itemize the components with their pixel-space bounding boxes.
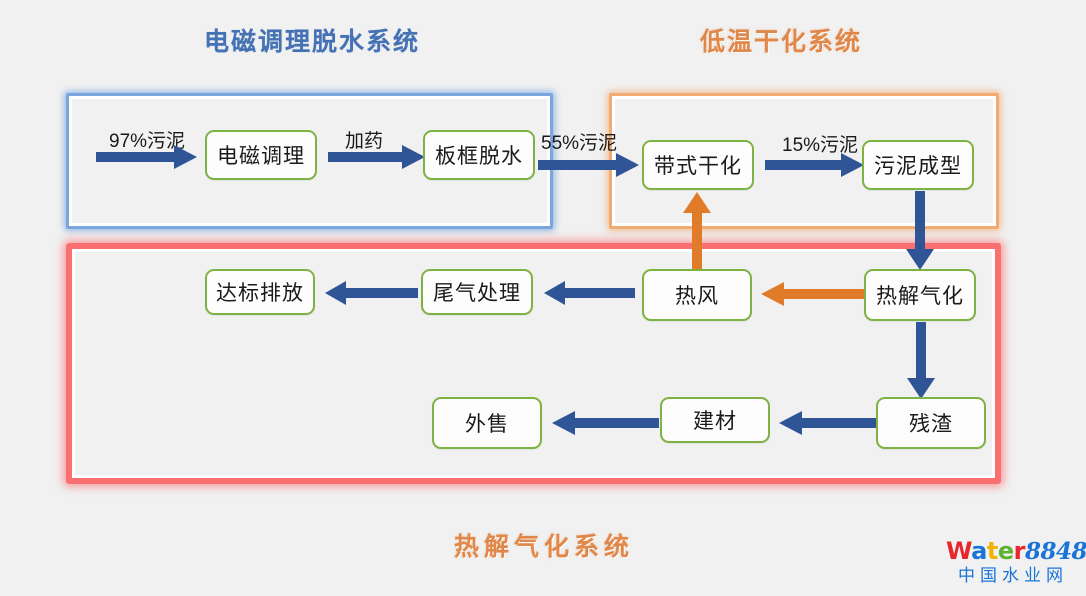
node-canzha[interactable]: 残渣 <box>876 397 986 449</box>
arrow-inlet-to-dianci <box>96 143 198 171</box>
watermark-letter-r: r <box>1014 537 1025 565</box>
watermark-logo-text: Water8848.com <box>946 539 1080 563</box>
system-title-dewatering: 电磁调理脱水系统 <box>204 22 420 58</box>
arrow-rejie-to-refeng <box>760 281 864 307</box>
node-waishou[interactable]: 外售 <box>432 397 542 449</box>
node-dianci-tiaoli[interactable]: 电磁调理 <box>205 130 317 180</box>
node-weiqi-chuli[interactable]: 尾气处理 <box>421 269 533 315</box>
node-wuni-chengxing[interactable]: 污泥成型 <box>862 140 974 190</box>
system-title-pyrolysis: 热解气化系统 <box>454 527 634 563</box>
system-title-drying: 低温干化系统 <box>700 22 862 58</box>
site-watermark: Water8848.com 中国水业网 <box>946 539 1080 584</box>
watermark-letter-t: t <box>987 537 998 565</box>
arrow-jiancai-to-waishou <box>551 410 659 436</box>
arrow-chengxing-to-rejie <box>905 191 935 271</box>
node-bankuang-tuoshui[interactable]: 板框脱水 <box>423 130 535 180</box>
node-rejie-qihua[interactable]: 热解气化 <box>864 269 976 321</box>
arrow-bankuang-to-daishi <box>538 152 640 180</box>
watermark-letter-e: e <box>998 537 1014 565</box>
watermark-chinese-name: 中国水业网 <box>946 567 1080 584</box>
node-dabiao-paifang[interactable]: 达标排放 <box>205 269 315 315</box>
node-refeng[interactable]: 热风 <box>642 269 752 321</box>
node-jiancai[interactable]: 建材 <box>660 397 770 443</box>
arrow-dianci-to-bankuang <box>328 143 426 171</box>
watermark-letter-w: W <box>946 537 971 565</box>
arrow-daishi-to-chengxing <box>765 152 865 180</box>
arrow-rejie-to-canzha <box>906 322 936 400</box>
watermark-number: 8848 <box>1025 538 1086 565</box>
arrow-canzha-to-jiancai <box>778 410 878 436</box>
node-daishi-ganhua[interactable]: 带式干化 <box>642 140 754 190</box>
arrow-weiqi-to-dabiao <box>324 280 418 306</box>
watermark-letter-a: a <box>971 537 987 565</box>
diagram-canvas: 电磁调理脱水系统 低温干化系统 热解气化系统 97%污泥 电磁调理 加药 板框脱… <box>0 0 1086 596</box>
edge-label-sludge-55: 55%污泥 <box>541 128 617 155</box>
arrow-refeng-to-weiqi <box>543 280 635 306</box>
arrow-refeng-to-daishi <box>682 190 712 272</box>
